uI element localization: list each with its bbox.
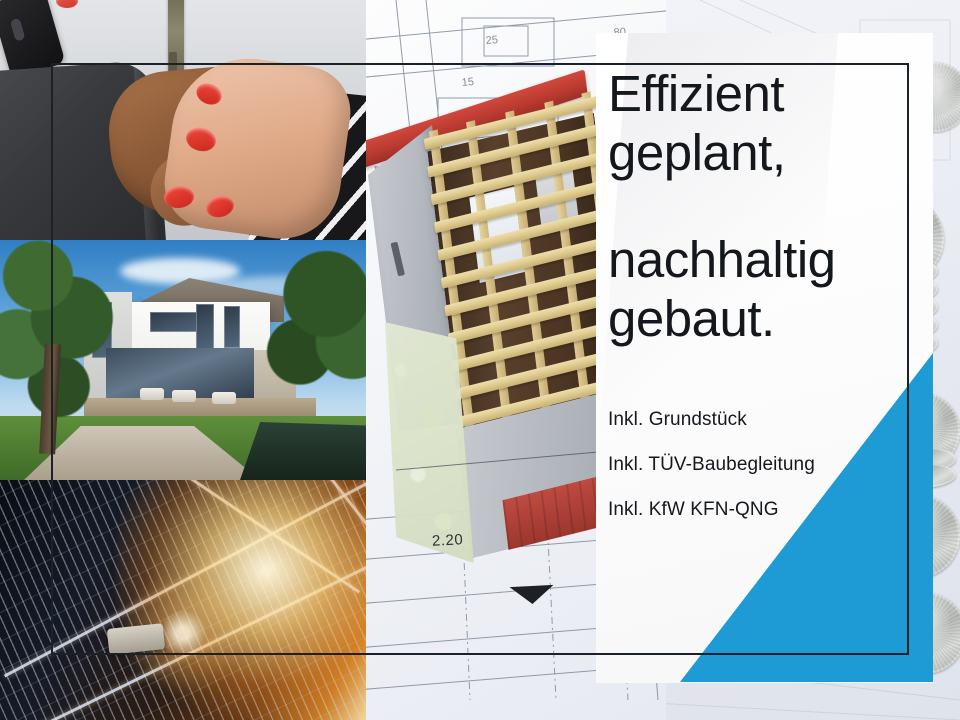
tree-right xyxy=(264,246,366,406)
blueprint-arrow-marker xyxy=(510,585,555,605)
headline-secondary: nachhaltiggebaut. xyxy=(608,230,924,348)
collage-tile-modern-house xyxy=(0,240,366,480)
list-item: Inkl. KfW KFN-QNG xyxy=(608,500,928,519)
headline-line-1: Effizient xyxy=(608,65,784,122)
svg-text:25: 25 xyxy=(485,34,498,47)
collage-tile-handshake xyxy=(0,0,366,240)
inclusions-list: Inkl. Grundstück Inkl. TÜV-Baubegleitung… xyxy=(608,410,928,545)
promo-copy: Effizientgeplant, nachhaltiggebaut. xyxy=(608,64,924,349)
list-item: Inkl. TÜV-Baubegleitung xyxy=(608,455,928,474)
headline-primary: Effizientgeplant, xyxy=(608,64,924,182)
headline-line-3: nachhaltig xyxy=(608,231,836,288)
list-item: Inkl. Grundstück xyxy=(608,410,928,429)
photo-collage xyxy=(0,0,366,720)
headline-line-4: gebaut. xyxy=(608,290,775,347)
pond xyxy=(240,422,366,480)
promo-banner: 25 15 80 2.12 6.21 1.2 xyxy=(0,0,960,720)
blueprint-dimension-label: 2.20 xyxy=(432,531,464,550)
collage-tile-solar-panels xyxy=(0,480,366,720)
headline-line-2: geplant, xyxy=(608,124,786,181)
